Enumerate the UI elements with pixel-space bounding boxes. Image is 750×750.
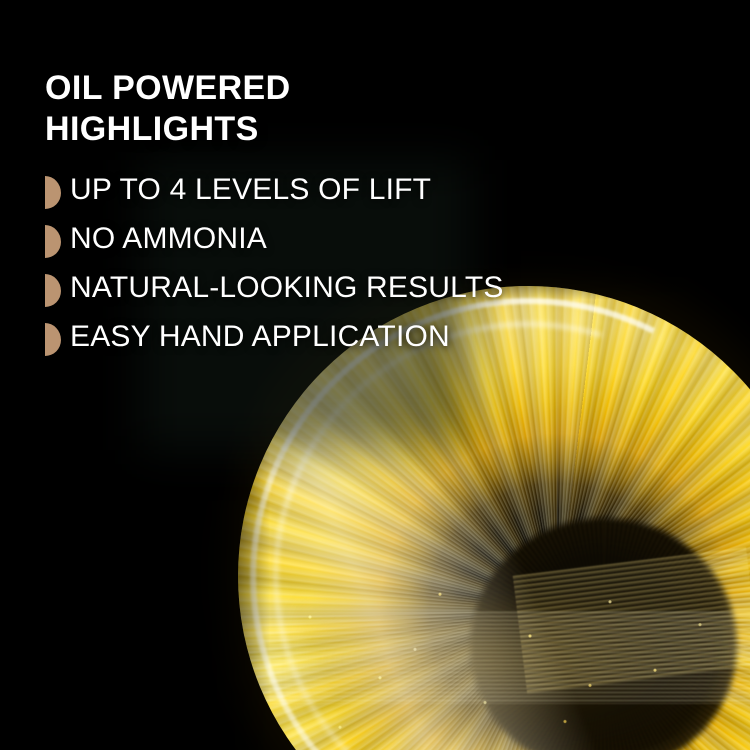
pollen-haze — [300, 600, 720, 750]
benefit-list: UP TO 4 LEVELS OF LIFT NO AMMONIA NATURA… — [45, 173, 605, 356]
half-circle-bullet-icon — [45, 176, 61, 209]
half-circle-bullet-icon — [45, 274, 61, 307]
list-item: UP TO 4 LEVELS OF LIFT — [45, 173, 605, 209]
pollen-sparkles — [250, 560, 750, 750]
page-title: OIL POWERED HIGHLIGHTS — [45, 68, 605, 151]
green-edge-glint — [238, 518, 412, 750]
promo-card: OIL POWERED HIGHLIGHTS UP TO 4 LEVELS OF… — [0, 0, 750, 750]
half-circle-bullet-icon — [45, 323, 61, 356]
list-item: NATURAL-LOOKING RESULTS — [45, 271, 605, 307]
content-block: OIL POWERED HIGHLIGHTS UP TO 4 LEVELS OF… — [45, 68, 605, 369]
half-circle-bullet-icon — [45, 225, 61, 258]
light-rays — [513, 547, 750, 695]
benefit-label: NO AMMONIA — [70, 222, 267, 257]
seed-texture — [470, 518, 737, 750]
motion-blur-band — [238, 611, 750, 704]
list-item: NO AMMONIA — [45, 222, 605, 258]
seed-head-center — [470, 518, 737, 750]
benefit-label: NATURAL-LOOKING RESULTS — [70, 271, 504, 306]
benefit-label: UP TO 4 LEVELS OF LIFT — [70, 173, 431, 208]
list-item: EASY HAND APPLICATION — [45, 320, 605, 356]
benefit-label: EASY HAND APPLICATION — [70, 320, 450, 355]
